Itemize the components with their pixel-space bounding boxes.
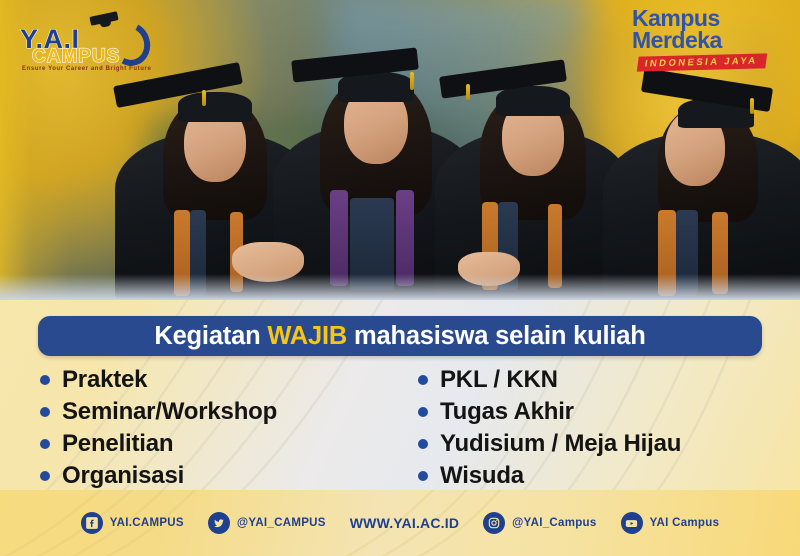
youtube-icon (621, 512, 643, 534)
bullet-dot-icon (418, 471, 428, 481)
list-item-label: Yudisium / Meja Hijau (440, 430, 681, 458)
hero-bottom-fade (0, 274, 800, 300)
activity-lists: Praktek Seminar/Workshop Penelitian Orga… (0, 364, 800, 492)
activity-list-left: Praktek Seminar/Workshop Penelitian Orga… (0, 364, 400, 492)
list-item: Seminar/Workshop (40, 396, 400, 428)
kampus-merdeka-banner: INDONESIA JAYA (637, 53, 768, 71)
list-item: Penelitian (40, 428, 400, 460)
website-url[interactable]: WWW.YAI.AC.ID (350, 515, 459, 531)
youtube-label: YAI Campus (650, 517, 720, 529)
graduate-figure-4 (600, 62, 800, 300)
social-link-facebook[interactable]: YAI.CAMPUS (81, 512, 184, 534)
list-item: PKL / KKN (418, 364, 800, 396)
bullet-dot-icon (418, 407, 428, 417)
logo-tagline: Ensure Your Career and Bright Future (22, 66, 151, 72)
page-title: Kegiatan WAJIB mahasiswa selain kuliah (154, 322, 645, 351)
facebook-icon (81, 512, 103, 534)
facebook-label: YAI.CAMPUS (110, 517, 184, 529)
footer-bar: YAI.CAMPUS @YAI_CAMPUS WWW.YAI.AC.ID @YA… (0, 490, 800, 556)
activity-list-right: PKL / KKN Tugas Akhir Yudisium / Meja Hi… (400, 364, 800, 492)
list-item: Wisuda (418, 460, 800, 492)
poster-canvas: Y.A.I CAMPUS Ensure Your Career and Brig… (0, 0, 800, 556)
list-item-label: Penelitian (62, 430, 173, 458)
bullet-dot-icon (418, 375, 428, 385)
list-item-label: Tugas Akhir (440, 398, 574, 426)
list-item-label: Wisuda (440, 462, 524, 490)
tassel (466, 84, 470, 100)
headline-after: mahasiswa selain kuliah (347, 322, 646, 350)
cap-crown (178, 92, 252, 122)
twitter-label: @YAI_CAMPUS (237, 517, 326, 529)
list-item-label: Praktek (62, 366, 147, 394)
social-link-instagram[interactable]: @YAI_Campus (483, 512, 596, 534)
list-item: Yudisium / Meja Hijau (418, 428, 800, 460)
list-item: Tugas Akhir (418, 396, 800, 428)
kampus-merdeka-logo: Kampus Merdeka INDONESIA JAYA (632, 8, 782, 74)
bullet-dot-icon (40, 439, 50, 449)
logo-campus-text: CAMPUS (32, 46, 120, 68)
kampus-merdeka-line1: Kampus (632, 8, 782, 29)
social-link-twitter[interactable]: @YAI_CAMPUS (208, 512, 326, 534)
stole-purple (396, 190, 414, 286)
headline-before: Kegiatan (154, 322, 267, 350)
yai-campus-logo: Y.A.I CAMPUS Ensure Your Career and Brig… (14, 8, 154, 70)
social-link-youtube[interactable]: YAI Campus (621, 512, 720, 534)
graduation-cap-icon (89, 11, 118, 26)
footer-links: YAI.CAMPUS @YAI_CAMPUS WWW.YAI.AC.ID @YA… (0, 490, 800, 556)
twitter-icon (208, 512, 230, 534)
stole-purple (330, 190, 348, 286)
kampus-merdeka-line2: Merdeka (632, 29, 782, 52)
cap-crown (496, 86, 570, 116)
list-item: Organisasi (40, 460, 400, 492)
bullet-dot-icon (40, 375, 50, 385)
hero-photo: Y.A.I CAMPUS Ensure Your Career and Brig… (0, 0, 800, 300)
list-item-label: Organisasi (62, 462, 184, 490)
headline-accent: WAJIB (267, 322, 347, 350)
tassel (202, 90, 206, 106)
headline-banner: Kegiatan WAJIB mahasiswa selain kuliah (38, 316, 762, 356)
instagram-icon (483, 512, 505, 534)
tassel (750, 98, 754, 114)
bullet-dot-icon (40, 407, 50, 417)
tassel (410, 72, 414, 90)
instagram-label: @YAI_Campus (512, 517, 596, 529)
bullet-dot-icon (418, 439, 428, 449)
list-item-label: Seminar/Workshop (62, 398, 277, 426)
bullet-dot-icon (40, 471, 50, 481)
list-item: Praktek (40, 364, 400, 396)
list-item-label: PKL / KKN (440, 366, 558, 394)
